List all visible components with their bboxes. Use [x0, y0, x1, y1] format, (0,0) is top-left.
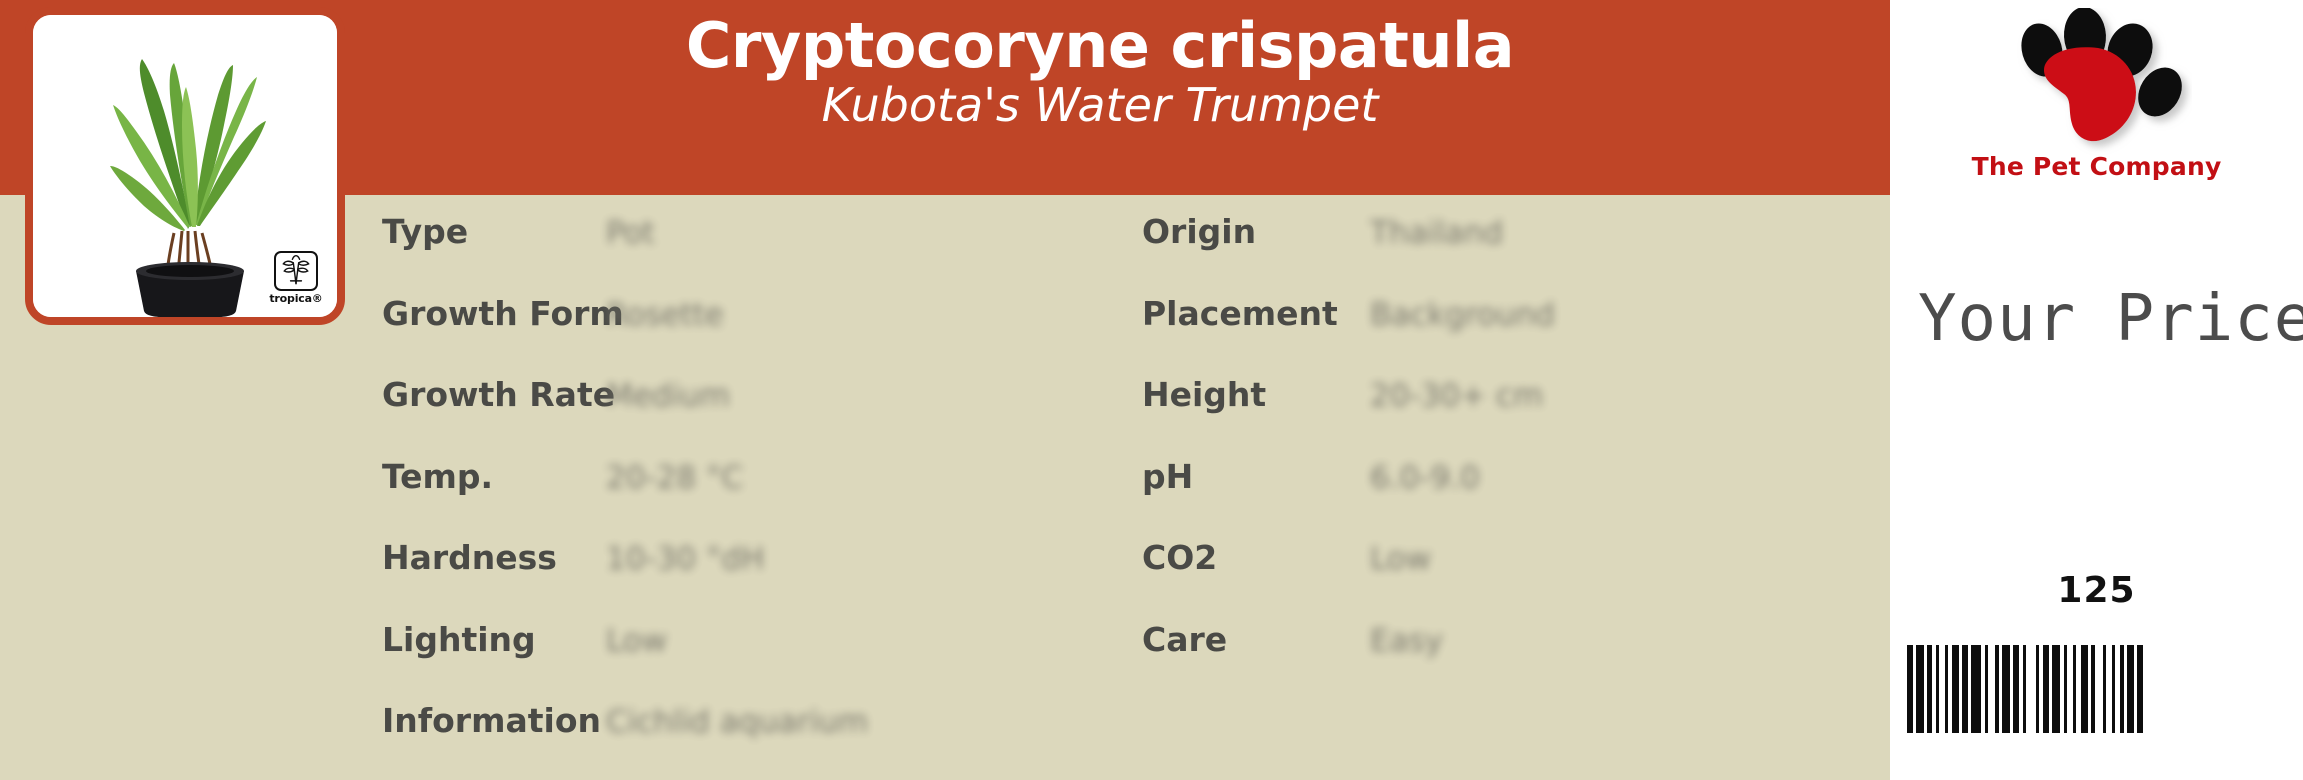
main-panel: Cryptocoryne crispatula Kubota's Water T…: [0, 0, 1890, 780]
spec-label-ph: pH: [1142, 457, 1370, 496]
spec-value-type: Pot: [606, 215, 655, 251]
spec-value-ph: 6.0-9.0: [1370, 460, 1480, 496]
barcode-bar: [2081, 645, 2088, 733]
spec-value-co2: Low: [1370, 541, 1431, 577]
spec-row: Height 20-30+ cm: [1142, 375, 1842, 457]
spec-row: Placement Background: [1142, 294, 1842, 376]
tropica-plant-icon: [274, 251, 318, 291]
spec-value-placement: Background: [1370, 297, 1555, 333]
spec-label-origin: Origin: [1142, 212, 1370, 251]
barcode-bar: [2052, 645, 2060, 733]
spec-row: CO2 Low: [1142, 538, 1842, 620]
sku-number: 125: [1890, 570, 2303, 611]
spec-value-origin: Thailand: [1370, 215, 1503, 251]
spec-label-information: Information: [382, 701, 606, 740]
tropica-logo: tropica®: [265, 251, 327, 309]
product-label: Cryptocoryne crispatula Kubota's Water T…: [0, 0, 2303, 780]
title-block: Cryptocoryne crispatula Kubota's Water T…: [340, 14, 1860, 135]
spec-row: pH 6.0-9.0: [1142, 457, 1842, 539]
spec-value-height: 20-30+ cm: [1370, 378, 1543, 414]
spec-label-height: Height: [1142, 375, 1370, 414]
brand-logo: The Pet Company: [1890, 8, 2303, 181]
spec-row: Care Easy: [1142, 620, 1842, 702]
spec-column-right: Origin Thailand Placement Background Hei…: [1142, 212, 1842, 701]
spec-value-growth-rate: Medium: [606, 378, 730, 414]
spec-label-lighting: Lighting: [382, 620, 606, 659]
price-caption: Your Price: [1918, 282, 2303, 356]
barcode-bar: [2002, 645, 2010, 733]
spec-value-information: Cichlid aquarium: [606, 704, 868, 740]
barcode-bar: [1971, 645, 1981, 733]
price-panel: The Pet Company Your Price 125: [1890, 0, 2303, 780]
spec-label-co2: CO2: [1142, 538, 1370, 577]
spec-label-care: Care: [1142, 620, 1370, 659]
spec-value-hardness: 10-30 °dH: [606, 541, 764, 577]
barcode-bar: [2127, 645, 2134, 733]
spec-row: Lighting Low: [382, 620, 1122, 702]
spec-value-lighting: Low: [606, 623, 667, 659]
page-subtitle: Kubota's Water Trumpet: [340, 77, 1860, 135]
paw-print-icon: [2002, 8, 2192, 156]
spec-value-temp: 20-28 °C: [606, 460, 743, 496]
brand-name: The Pet Company: [1890, 152, 2303, 181]
spec-row: Growth Form Rosette: [382, 294, 1122, 376]
spec-label-growth-rate: Growth Rate: [382, 375, 606, 414]
barcode-space: [2095, 645, 2103, 733]
spec-label-placement: Placement: [1142, 294, 1370, 333]
barcode-space: [1988, 645, 1995, 733]
plant-photo-card: tropica®: [25, 7, 345, 325]
spec-label-growth-form: Growth Form: [382, 294, 606, 333]
tropica-label: tropica®: [265, 292, 327, 305]
spec-row: Hardness 10-30 °dH: [382, 538, 1122, 620]
barcode-bar: [1916, 645, 1924, 733]
barcode: [1907, 645, 2287, 733]
spec-value-care: Easy: [1370, 623, 1443, 659]
spec-label-type: Type: [382, 212, 606, 251]
spec-label-temp: Temp.: [382, 457, 606, 496]
barcode-space: [2026, 645, 2036, 733]
plant-photo: tropica®: [33, 15, 337, 317]
barcode-bar: [2137, 645, 2143, 733]
barcode-bar: [1952, 645, 1959, 733]
page-title: Cryptocoryne crispatula: [340, 14, 1860, 77]
spec-column-left: Type Pot Growth Form Rosette Growth Rate…: [382, 212, 1122, 780]
spec-row: Type Pot: [382, 212, 1122, 294]
spec-row: Information Cichlid aquarium: [382, 701, 1122, 780]
spec-row: Origin Thailand: [1142, 212, 1842, 294]
spec-label-hardness: Hardness: [382, 538, 606, 577]
spec-row: Temp. 20-28 °C: [382, 457, 1122, 539]
spec-value-growth-form: Rosette: [606, 297, 724, 333]
spec-row: Growth Rate Medium: [382, 375, 1122, 457]
